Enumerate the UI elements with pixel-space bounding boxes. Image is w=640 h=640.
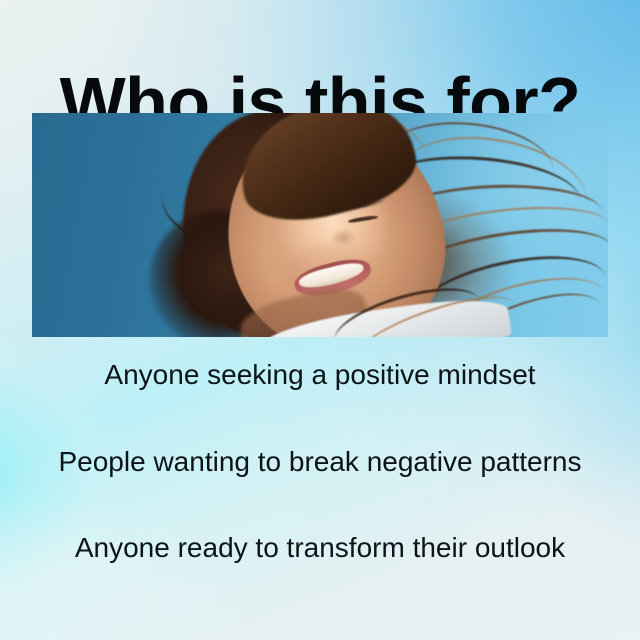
bullet-line-1: Anyone seeking a positive mindset [0,358,640,392]
hero-photo [32,113,608,337]
slide-canvas: Who is this for? A [0,0,640,640]
photo-nose-shading [332,229,358,247]
bullet-line-3: Anyone ready to transform their outlook [0,531,640,565]
bullet-line-2: People wanting to break negative pattern… [0,445,640,479]
